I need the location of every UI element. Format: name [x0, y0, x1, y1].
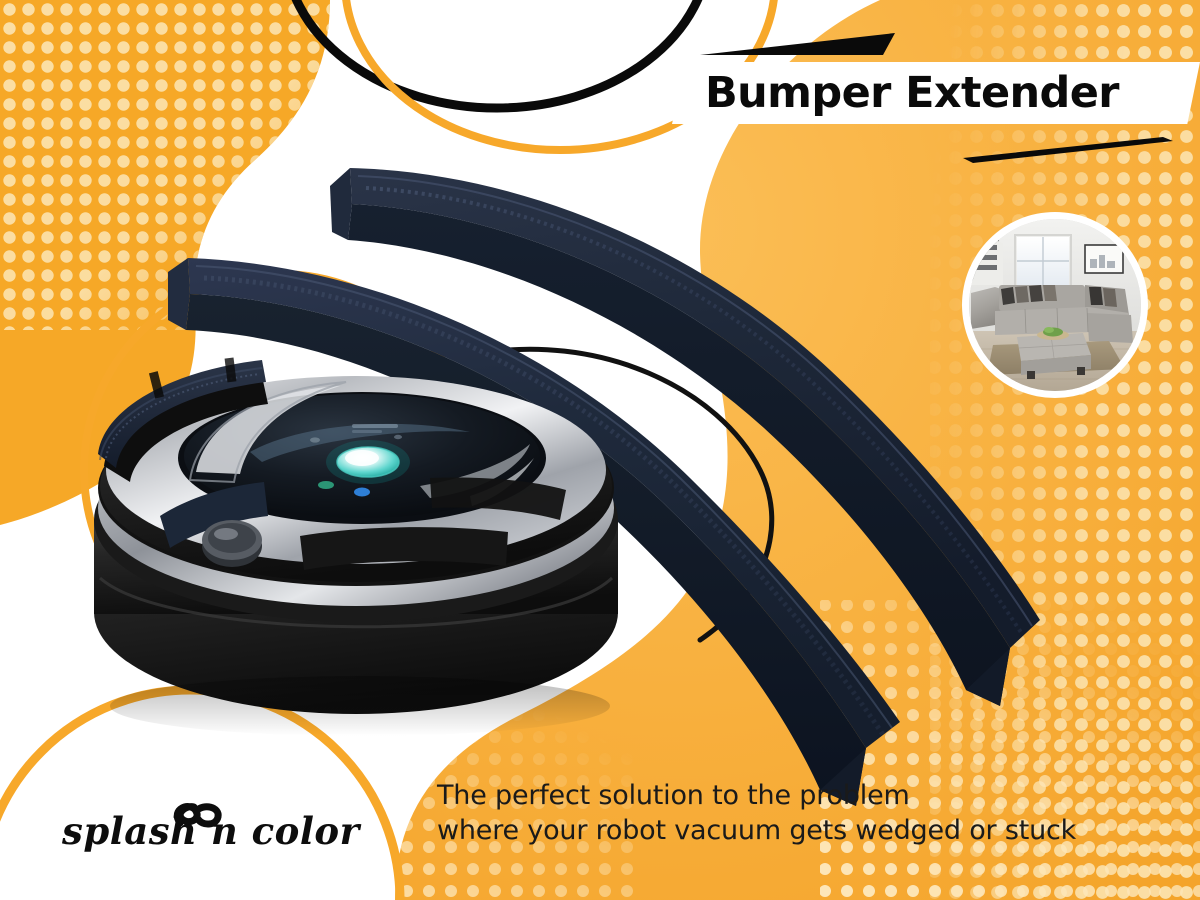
tagline-line-2: where your robot vacuum gets wedged or s… [437, 813, 1076, 848]
accent-wedge-bottom-icon [963, 137, 1173, 163]
tagline: The perfect solution to the problem wher… [437, 778, 1076, 848]
product-marketing-banner: Bumper Extender [0, 0, 1200, 900]
title-banner: Bumper Extender [672, 62, 1200, 124]
brand-logo-text: splash n color [62, 809, 360, 853]
accent-wedge-top-icon [700, 33, 895, 55]
page-title: Bumper Extender [705, 72, 1119, 115]
tagline-line-1: The perfect solution to the problem [437, 778, 1076, 813]
brand-logo: splash n color [62, 795, 312, 865]
title-accent-shapes [0, 0, 1200, 900]
